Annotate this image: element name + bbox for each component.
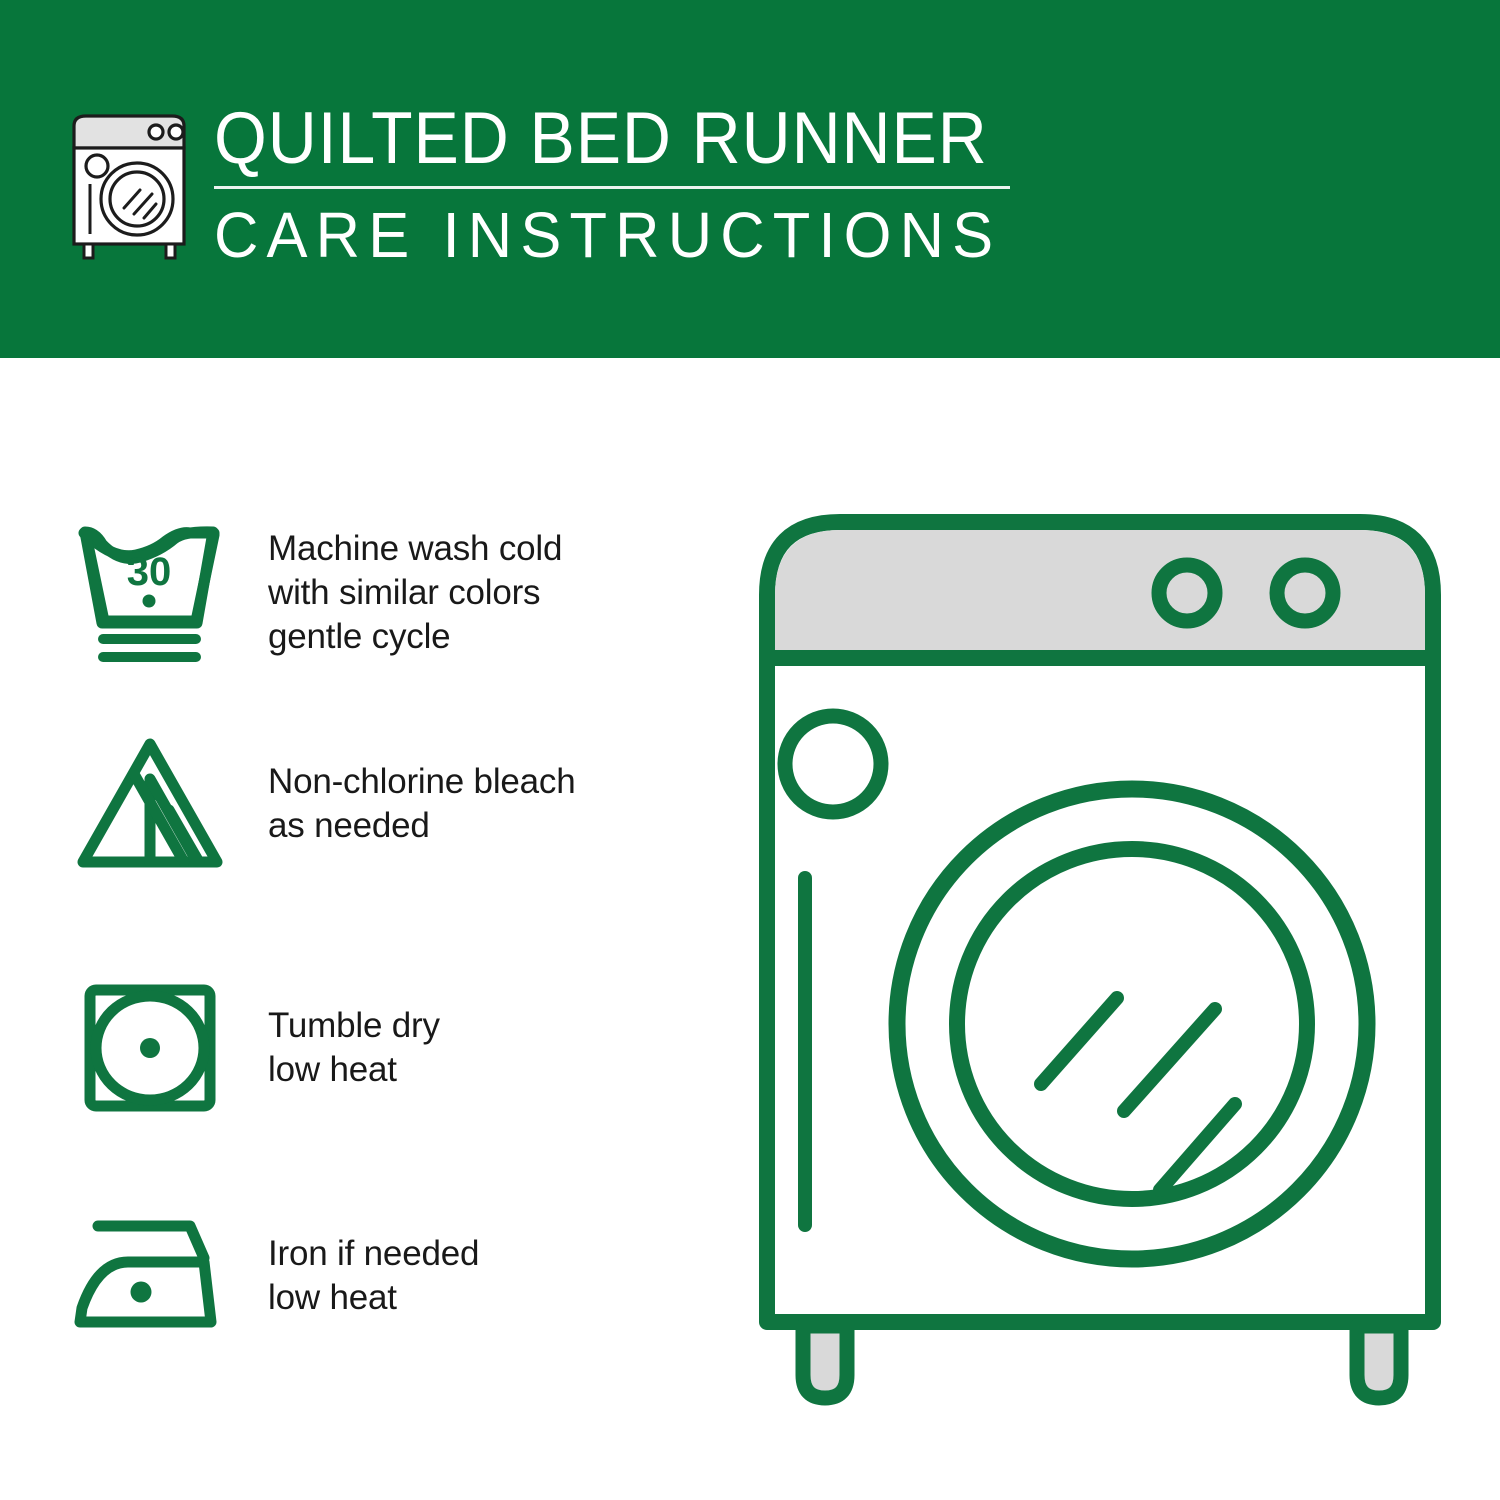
dryer-heat-dot [140,1038,160,1058]
page-subtitle: CARE INSTRUCTIONS [214,198,992,272]
header-text-block: QUILTED BED RUNNER CARE INSTRUCTIONS [214,96,1024,272]
tumble-dry-low-heat-icon [68,968,243,1128]
care-instructions-list: 30 30 Machine wash cold with similar col… [0,358,700,1500]
care-row-machine-wash: 30 30 Machine wash cold with similar col… [0,508,700,678]
drum-inner-ring [957,849,1307,1199]
care-row-bleach: Non-chlorine bleach as needed [0,724,700,884]
washing-machine-icon [66,104,192,262]
control-knob-right [1277,565,1333,621]
care-label-iron: Iron if needed low heat [268,1232,479,1320]
care-row-iron: Iron if needed low heat [0,1196,700,1356]
iron-heat-dot [131,1282,152,1303]
detergent-dispenser-icon [785,716,881,812]
header-banner: QUILTED BED RUNNER CARE INSTRUCTIONS [0,0,1500,358]
care-label-tumble-dry: Tumble dry low heat [268,1004,440,1092]
control-knob-left [1159,565,1215,621]
iron-low-heat-icon [68,1196,243,1356]
machine-leg-right [1357,1326,1401,1398]
machine-leg-left [803,1326,847,1398]
non-chlorine-bleach-triangle-icon [68,724,243,884]
page-title: QUILTED BED RUNNER [214,96,967,182]
care-row-tumble-dry: Tumble dry low heat [0,968,700,1128]
wash-tub-30-gentle-icon: 30 30 [68,513,243,673]
care-label-bleach: Non-chlorine bleach as needed [268,760,576,848]
front-load-washing-machine-illustration [735,490,1465,1430]
title-divider [214,186,1010,189]
care-label-machine-wash: Machine wash cold with similar colors ge… [268,527,562,659]
wash-temperature-value: 30 [127,550,172,594]
